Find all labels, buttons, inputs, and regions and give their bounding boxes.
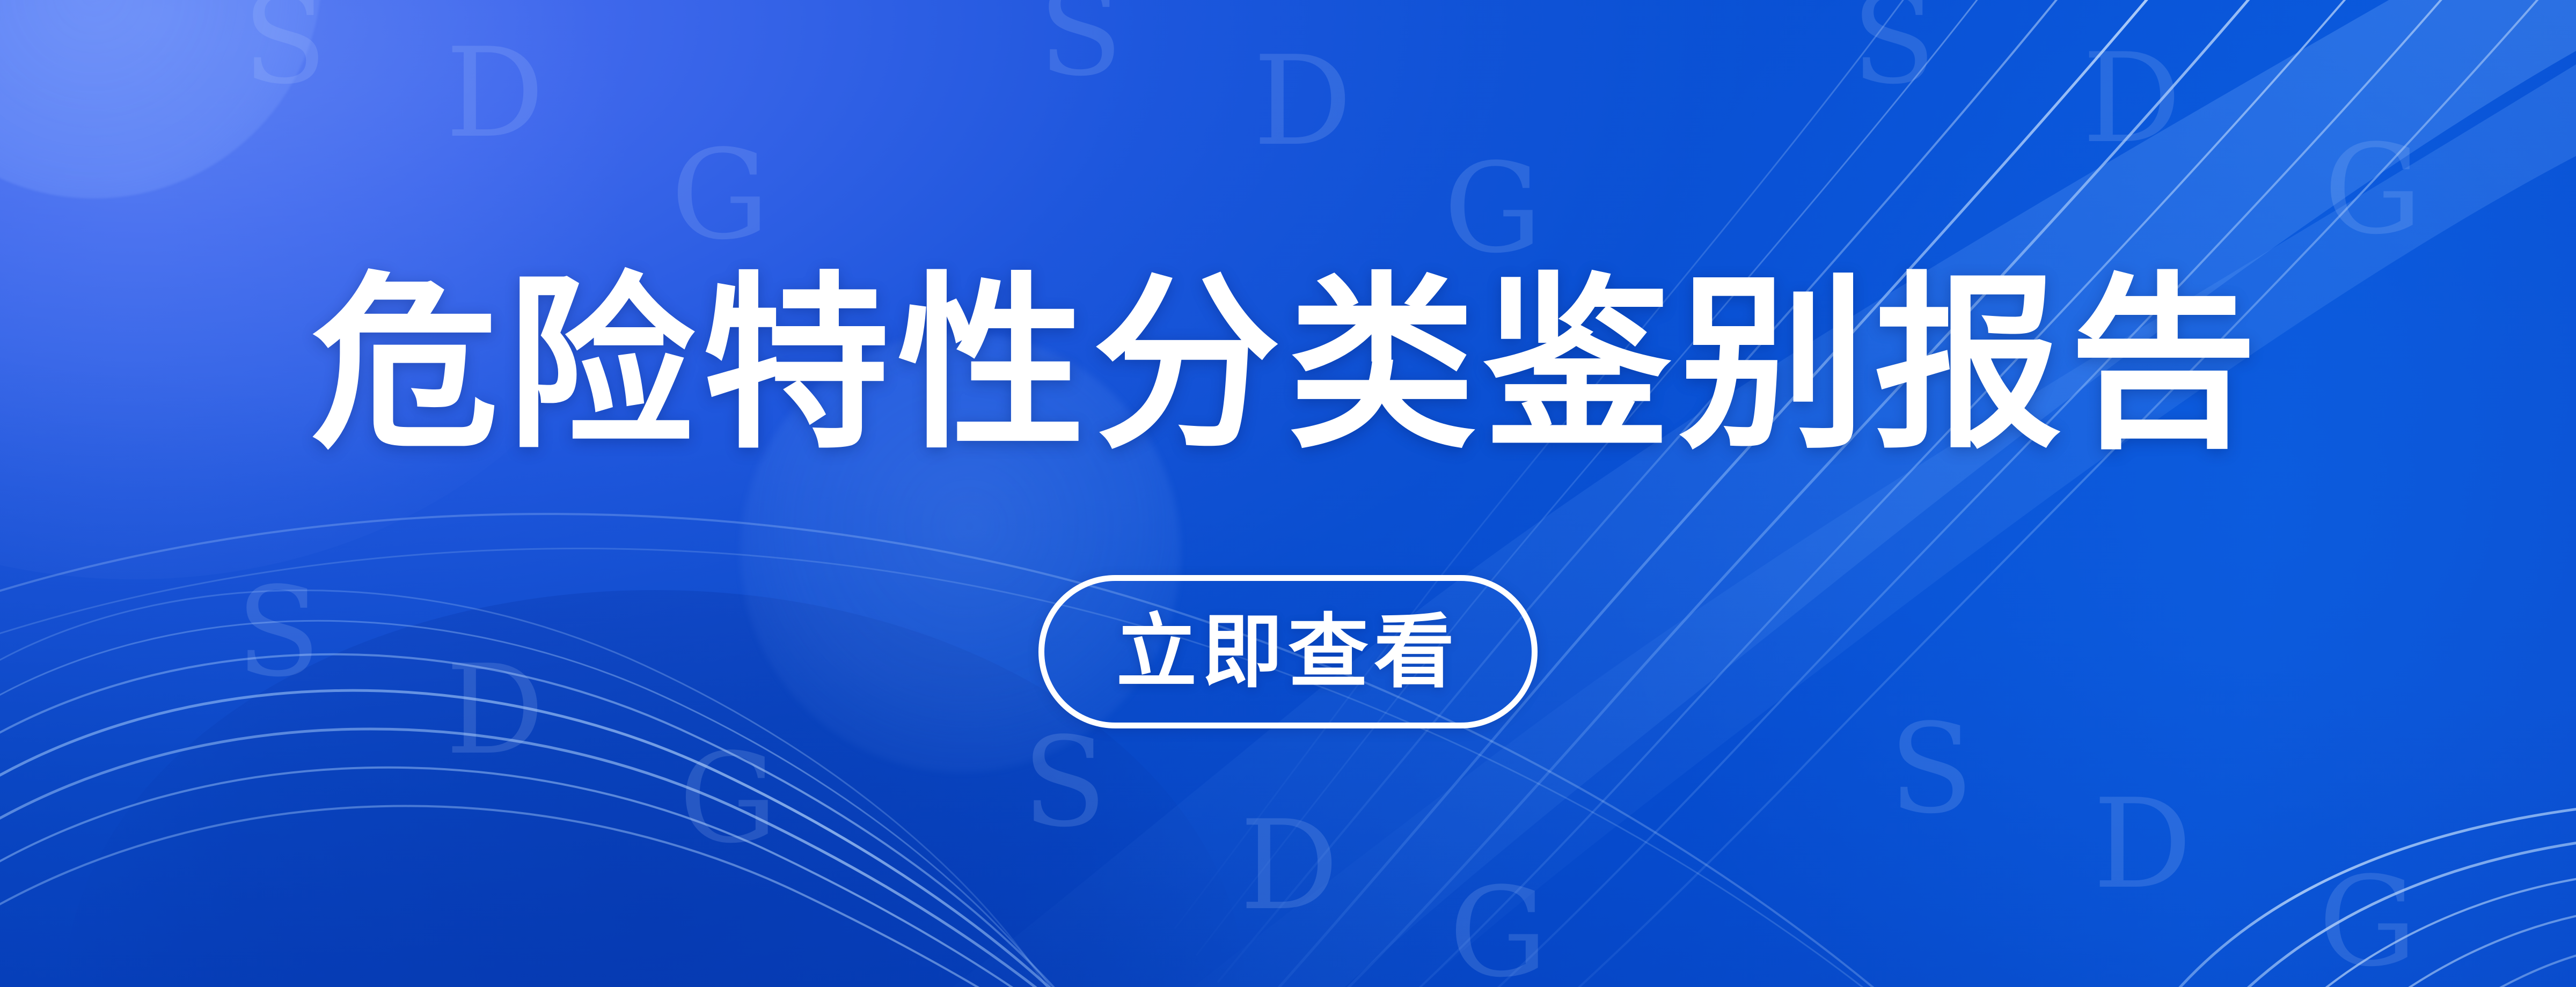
page-title: 危险特性分类鉴别报告 [311, 264, 2265, 467]
promo-banner: S D G S D G S D G S D G S D G S D G 危险特性… [0, 0, 2576, 987]
cta-container: 立即查看 [1038, 575, 1538, 728]
view-now-button[interactable]: 立即查看 [1038, 575, 1538, 728]
view-now-button-label: 立即查看 [1116, 612, 1460, 692]
banner-content: 危险特性分类鉴别报告 立即查看 [0, 0, 2576, 987]
